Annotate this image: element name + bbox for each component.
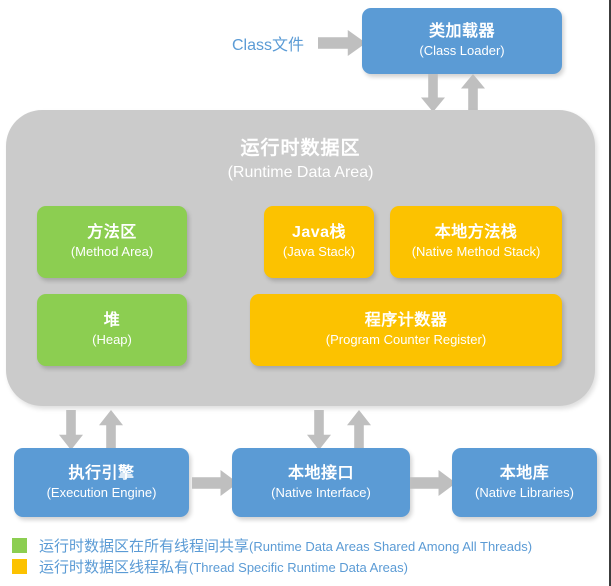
node-program-counter-register-label-cn: 程序计数器: [365, 312, 448, 331]
node-native-interface-label-en: (Native Interface): [271, 485, 371, 500]
legend-label-shared-cn: 运行时数据区在所有线程间共享: [39, 538, 249, 555]
legend-item-thread-specific: 运行时数据区线程私有(Thread Specific Runtime Data …: [12, 556, 592, 577]
runtime-data-area-title-en: (Runtime Data Area): [6, 163, 595, 182]
node-class-loader-label-cn: 类加载器: [429, 23, 495, 42]
runtime-data-area-title: 运行时数据区 (Runtime Data Area): [6, 138, 595, 182]
arrow-native-interface-to-runtime-area: [347, 410, 371, 450]
node-program-counter-register[interactable]: 程序计数器 (Program Counter Register): [250, 294, 562, 366]
arrow-execution-engine-to-runtime-area: [99, 410, 123, 450]
legend-swatch-shared: [12, 538, 27, 553]
node-heap[interactable]: 堆 (Heap): [37, 294, 187, 366]
node-native-method-stack-label-en: (Native Method Stack): [412, 244, 541, 259]
class-file-label: Class文件: [232, 31, 304, 55]
arrow-class-file-to-class-loader: [318, 30, 366, 56]
node-heap-label-en: (Heap): [92, 332, 132, 347]
node-method-area-label-cn: 方法区: [87, 224, 137, 243]
runtime-data-area-title-cn: 运行时数据区: [6, 138, 595, 161]
node-native-interface[interactable]: 本地接口 (Native Interface): [232, 448, 410, 517]
node-class-loader[interactable]: 类加载器 (Class Loader): [362, 8, 562, 74]
legend-item-shared: 运行时数据区在所有线程间共享(Runtime Data Areas Shared…: [12, 535, 592, 556]
node-java-stack[interactable]: Java栈 (Java Stack): [264, 206, 374, 278]
legend-label-thread-specific: 运行时数据区线程私有(Thread Specific Runtime Data …: [39, 556, 408, 577]
node-execution-engine-label-en: (Execution Engine): [47, 485, 157, 500]
diagram-canvas: Class文件 类加载器 (Class Loader) 运行时数据区 (Runt…: [0, 0, 611, 586]
runtime-data-area-container: 运行时数据区 (Runtime Data Area) 方法区 (Method A…: [6, 110, 595, 406]
legend-swatch-thread-specific: [12, 559, 27, 574]
node-java-stack-label-en: (Java Stack): [283, 244, 355, 259]
node-java-stack-label-cn: Java栈: [292, 224, 346, 243]
node-native-libraries-label-en: (Native Libraries): [475, 485, 574, 500]
legend-label-shared: 运行时数据区在所有线程间共享(Runtime Data Areas Shared…: [39, 535, 532, 556]
arrow-native-interface-to-native-libraries: [410, 470, 456, 496]
node-native-method-stack[interactable]: 本地方法栈 (Native Method Stack): [390, 206, 562, 278]
arrow-runtime-area-to-class-loader: [461, 74, 485, 112]
legend: 运行时数据区在所有线程间共享(Runtime Data Areas Shared…: [12, 535, 592, 577]
node-native-interface-label-cn: 本地接口: [288, 465, 354, 484]
arrow-runtime-area-to-native-interface: [307, 410, 331, 450]
legend-label-shared-en: (Runtime Data Areas Shared Among All Thr…: [249, 539, 532, 554]
node-class-loader-label-en: (Class Loader): [419, 43, 504, 58]
arrow-class-loader-to-runtime-area: [421, 74, 445, 112]
node-native-libraries-label-cn: 本地库: [500, 465, 550, 484]
legend-label-thread-specific-en: (Thread Specific Runtime Data Areas): [189, 560, 408, 575]
arrow-runtime-area-to-execution-engine: [59, 410, 83, 450]
node-method-area[interactable]: 方法区 (Method Area): [37, 206, 187, 278]
node-native-method-stack-label-cn: 本地方法栈: [435, 224, 518, 243]
legend-label-thread-specific-cn: 运行时数据区线程私有: [39, 559, 189, 576]
node-program-counter-register-label-en: (Program Counter Register): [326, 332, 486, 347]
node-execution-engine-label-cn: 执行引擎: [68, 465, 134, 484]
node-heap-label-cn: 堆: [104, 312, 121, 331]
node-method-area-label-en: (Method Area): [71, 244, 153, 259]
node-native-libraries[interactable]: 本地库 (Native Libraries): [452, 448, 597, 517]
node-execution-engine[interactable]: 执行引擎 (Execution Engine): [14, 448, 189, 517]
